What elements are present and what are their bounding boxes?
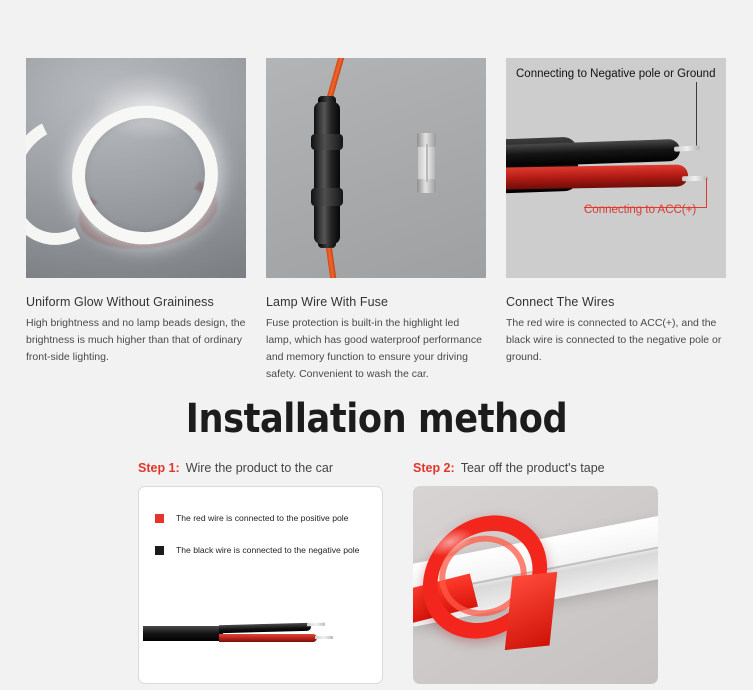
cable-black-lead (219, 623, 311, 633)
tape-tail-right (505, 572, 557, 650)
step-1-heading: Step 1:Wire the product to the car (138, 461, 383, 475)
step-2-panel (413, 486, 658, 684)
step-1-panel: The red wire is connected to the positiv… (138, 486, 383, 684)
step-1-number: Step 1: (138, 461, 180, 475)
feature-title: Connect The Wires (506, 295, 726, 309)
red-wire-tip (682, 176, 708, 181)
coiled-led-strip-photo (26, 58, 246, 278)
step-2: Step 2:Tear off the product's tape (413, 461, 658, 684)
glass-fuse (418, 134, 435, 192)
red-wire (506, 164, 688, 189)
negative-leader-line (696, 82, 697, 146)
cable-jacket (143, 626, 223, 641)
feature-description: High brightness and no lamp beads design… (26, 315, 246, 366)
acc-leader-vertical (706, 178, 707, 208)
wire-connection-photo: Connecting to Negative pole or Ground Co… (506, 58, 726, 278)
step-2-heading: Step 2:Tear off the product's tape (413, 461, 658, 475)
black-wire (506, 139, 680, 167)
black-fuse-holder (314, 102, 340, 244)
split-cable-illustration (143, 618, 383, 652)
step-1: Step 1:Wire the product to the car The r… (138, 461, 383, 684)
step-2-text: Tear off the product's tape (461, 461, 605, 475)
fuse-holder-photo (266, 58, 486, 278)
legend-label-red: The red wire is connected to the positiv… (176, 513, 348, 523)
red-wire-swatch (155, 514, 164, 523)
legend-label-black: The black wire is connected to the negat… (176, 545, 359, 555)
step-1-text: Wire the product to the car (186, 461, 333, 475)
feature-card-1: Uniform Glow Without Graininess High bri… (26, 58, 246, 383)
wire-legend: The red wire is connected to the positiv… (139, 487, 382, 555)
cable-red-lead (219, 634, 317, 642)
cable-black-copper-tip (307, 623, 325, 626)
feature-description: Fuse protection is built-in the highligh… (266, 315, 486, 383)
fuse-filament (426, 144, 428, 182)
feature-title: Lamp Wire With Fuse (266, 295, 486, 309)
legend-item-black: The black wire is connected to the negat… (155, 545, 382, 555)
feature-card-2: Lamp Wire With Fuse Fuse protection is b… (266, 58, 486, 383)
cable-red-copper-tip (315, 636, 333, 639)
feature-description: The red wire is connected to ACC(+), and… (506, 315, 726, 366)
feature-title: Uniform Glow Without Graininess (26, 295, 246, 309)
step-2-number: Step 2: (413, 461, 455, 475)
acc-positive-label: Connecting to ACC(+) (584, 204, 696, 216)
installation-steps: Step 1:Wire the product to the car The r… (138, 461, 658, 684)
feature-card-3: Connecting to Negative pole or Ground Co… (506, 58, 726, 383)
negative-pole-label: Connecting to Negative pole or Ground (516, 68, 715, 80)
features-row: Uniform Glow Without Graininess High bri… (26, 58, 726, 383)
black-wire-tip (674, 145, 700, 151)
legend-item-red: The red wire is connected to the positiv… (155, 513, 382, 523)
installation-method-heading: Installation method (45, 396, 708, 442)
black-wire-swatch (155, 546, 164, 555)
